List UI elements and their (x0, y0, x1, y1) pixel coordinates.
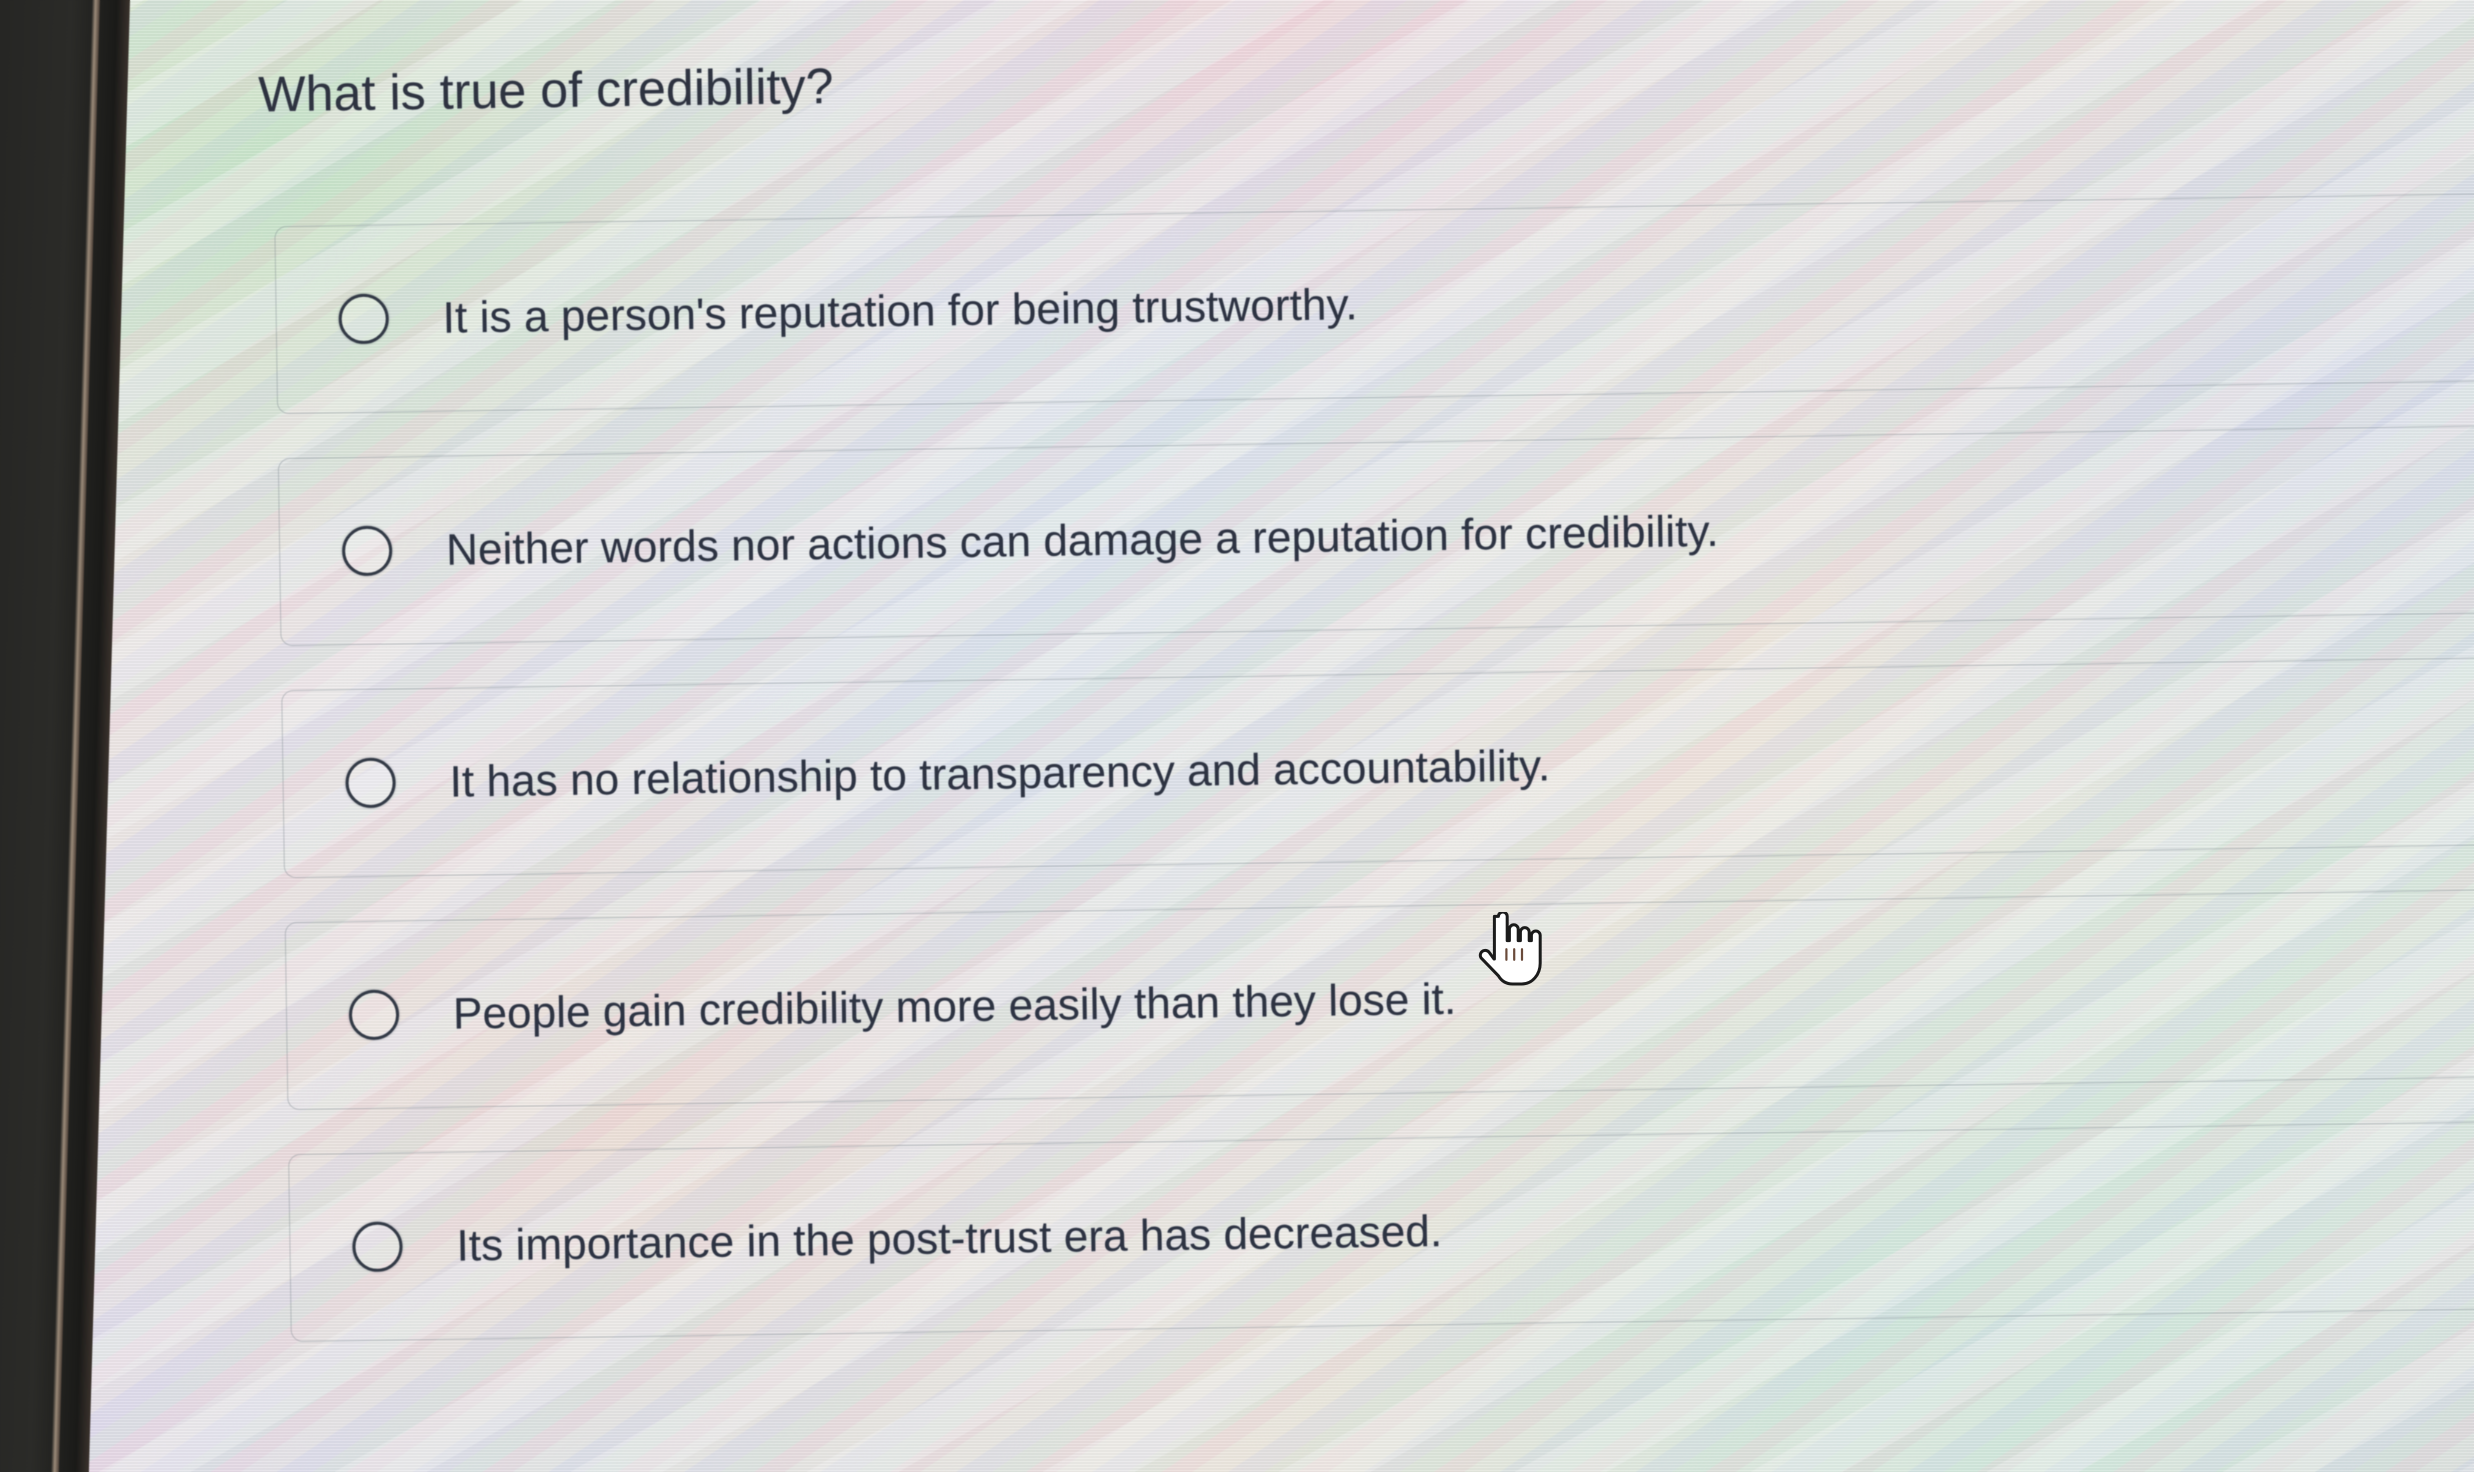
screen-surface (0, 0, 2474, 1472)
moire-pattern-highlight (0, 0, 2474, 1472)
pointing-hand-cursor (1478, 912, 1544, 992)
monitor-photo: What is true of credibility? It is a per… (0, 0, 2474, 1472)
